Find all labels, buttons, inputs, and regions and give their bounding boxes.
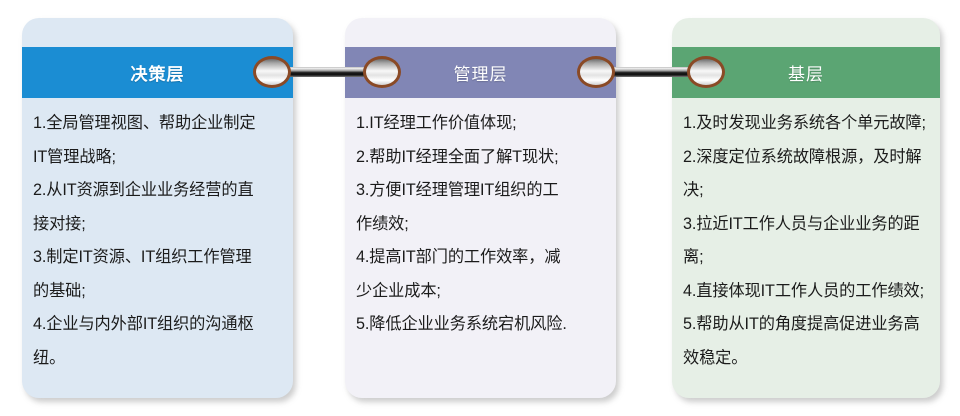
card-management-layer-header: 管理层: [345, 47, 616, 98]
bullet-line: 效稳定。: [683, 342, 928, 376]
bullet-line: 离;: [683, 241, 928, 275]
bullet-line: 接对接;: [33, 208, 281, 242]
bullet-line: 的基础;: [33, 275, 281, 309]
bullet-line: 1.IT经理工作价值体现;: [356, 107, 604, 141]
bullet-line: 作绩效;: [356, 208, 604, 242]
card-base-layer-title: 基层: [788, 60, 824, 85]
bullet-line: 决;: [683, 174, 928, 208]
bullet-line: 2.帮助IT经理全面了解T现状;: [356, 141, 604, 175]
card-decision-layer-header: 决策层: [22, 47, 293, 98]
card-base-layer[interactable]: 基层 1.及时发现业务系统各个单元故障; 2.深度定位系统故障根源，及时解 决;…: [672, 18, 940, 398]
card-base-layer-body: 1.及时发现业务系统各个单元故障; 2.深度定位系统故障根源，及时解 决; 3.…: [672, 98, 940, 398]
bullet-line: 少企业成本;: [356, 275, 604, 309]
card-decision-layer[interactable]: 决策层 1.全局管理视图、帮助企业制定 IT管理战略; 2.从IT资源到企业业务…: [22, 18, 293, 398]
bullet-line: 3.方便IT经理管理IT组织的工: [356, 174, 604, 208]
bullet-line: 1.及时发现业务系统各个单元故障;: [683, 107, 928, 141]
bullet-line: 5.降低企业业务系统宕机风险.: [356, 308, 604, 342]
card-management-layer-title: 管理层: [454, 60, 508, 85]
bullet-line: 1.全局管理视图、帮助企业制定: [33, 107, 281, 141]
card-decision-layer-body: 1.全局管理视图、帮助企业制定 IT管理战略; 2.从IT资源到企业业务经营的直…: [22, 98, 293, 398]
bullet-line: 4.提高IT部门的工作效率，减: [356, 241, 604, 275]
card-management-layer-body: 1.IT经理工作价值体现; 2.帮助IT经理全面了解T现状; 3.方便IT经理管…: [345, 98, 616, 398]
bullet-line: IT管理战略;: [33, 141, 281, 175]
bullet-line: 5.帮助从IT的角度提高促进业务高: [683, 308, 928, 342]
bullet-line: 4.企业与内外部IT组织的沟通枢: [33, 308, 281, 342]
bullet-line: 2.深度定位系统故障根源，及时解: [683, 141, 928, 175]
bullet-line: 纽。: [33, 342, 281, 376]
card-decision-layer-title: 决策层: [131, 60, 185, 85]
card-base-layer-header: 基层: [672, 47, 940, 98]
diagram-canvas: 决策层 1.全局管理视图、帮助企业制定 IT管理战略; 2.从IT资源到企业业务…: [0, 0, 960, 416]
card-management-layer[interactable]: 管理层 1.IT经理工作价值体现; 2.帮助IT经理全面了解T现状; 3.方便I…: [345, 18, 616, 398]
bullet-line: 4.直接体现IT工作人员的工作绩效;: [683, 275, 928, 309]
bullet-line: 3.拉近IT工作人员与企业业务的距: [683, 208, 928, 242]
bullet-line: 2.从IT资源到企业业务经营的直: [33, 174, 281, 208]
bullet-line: 3.制定IT资源、IT组织工作管理: [33, 241, 281, 275]
